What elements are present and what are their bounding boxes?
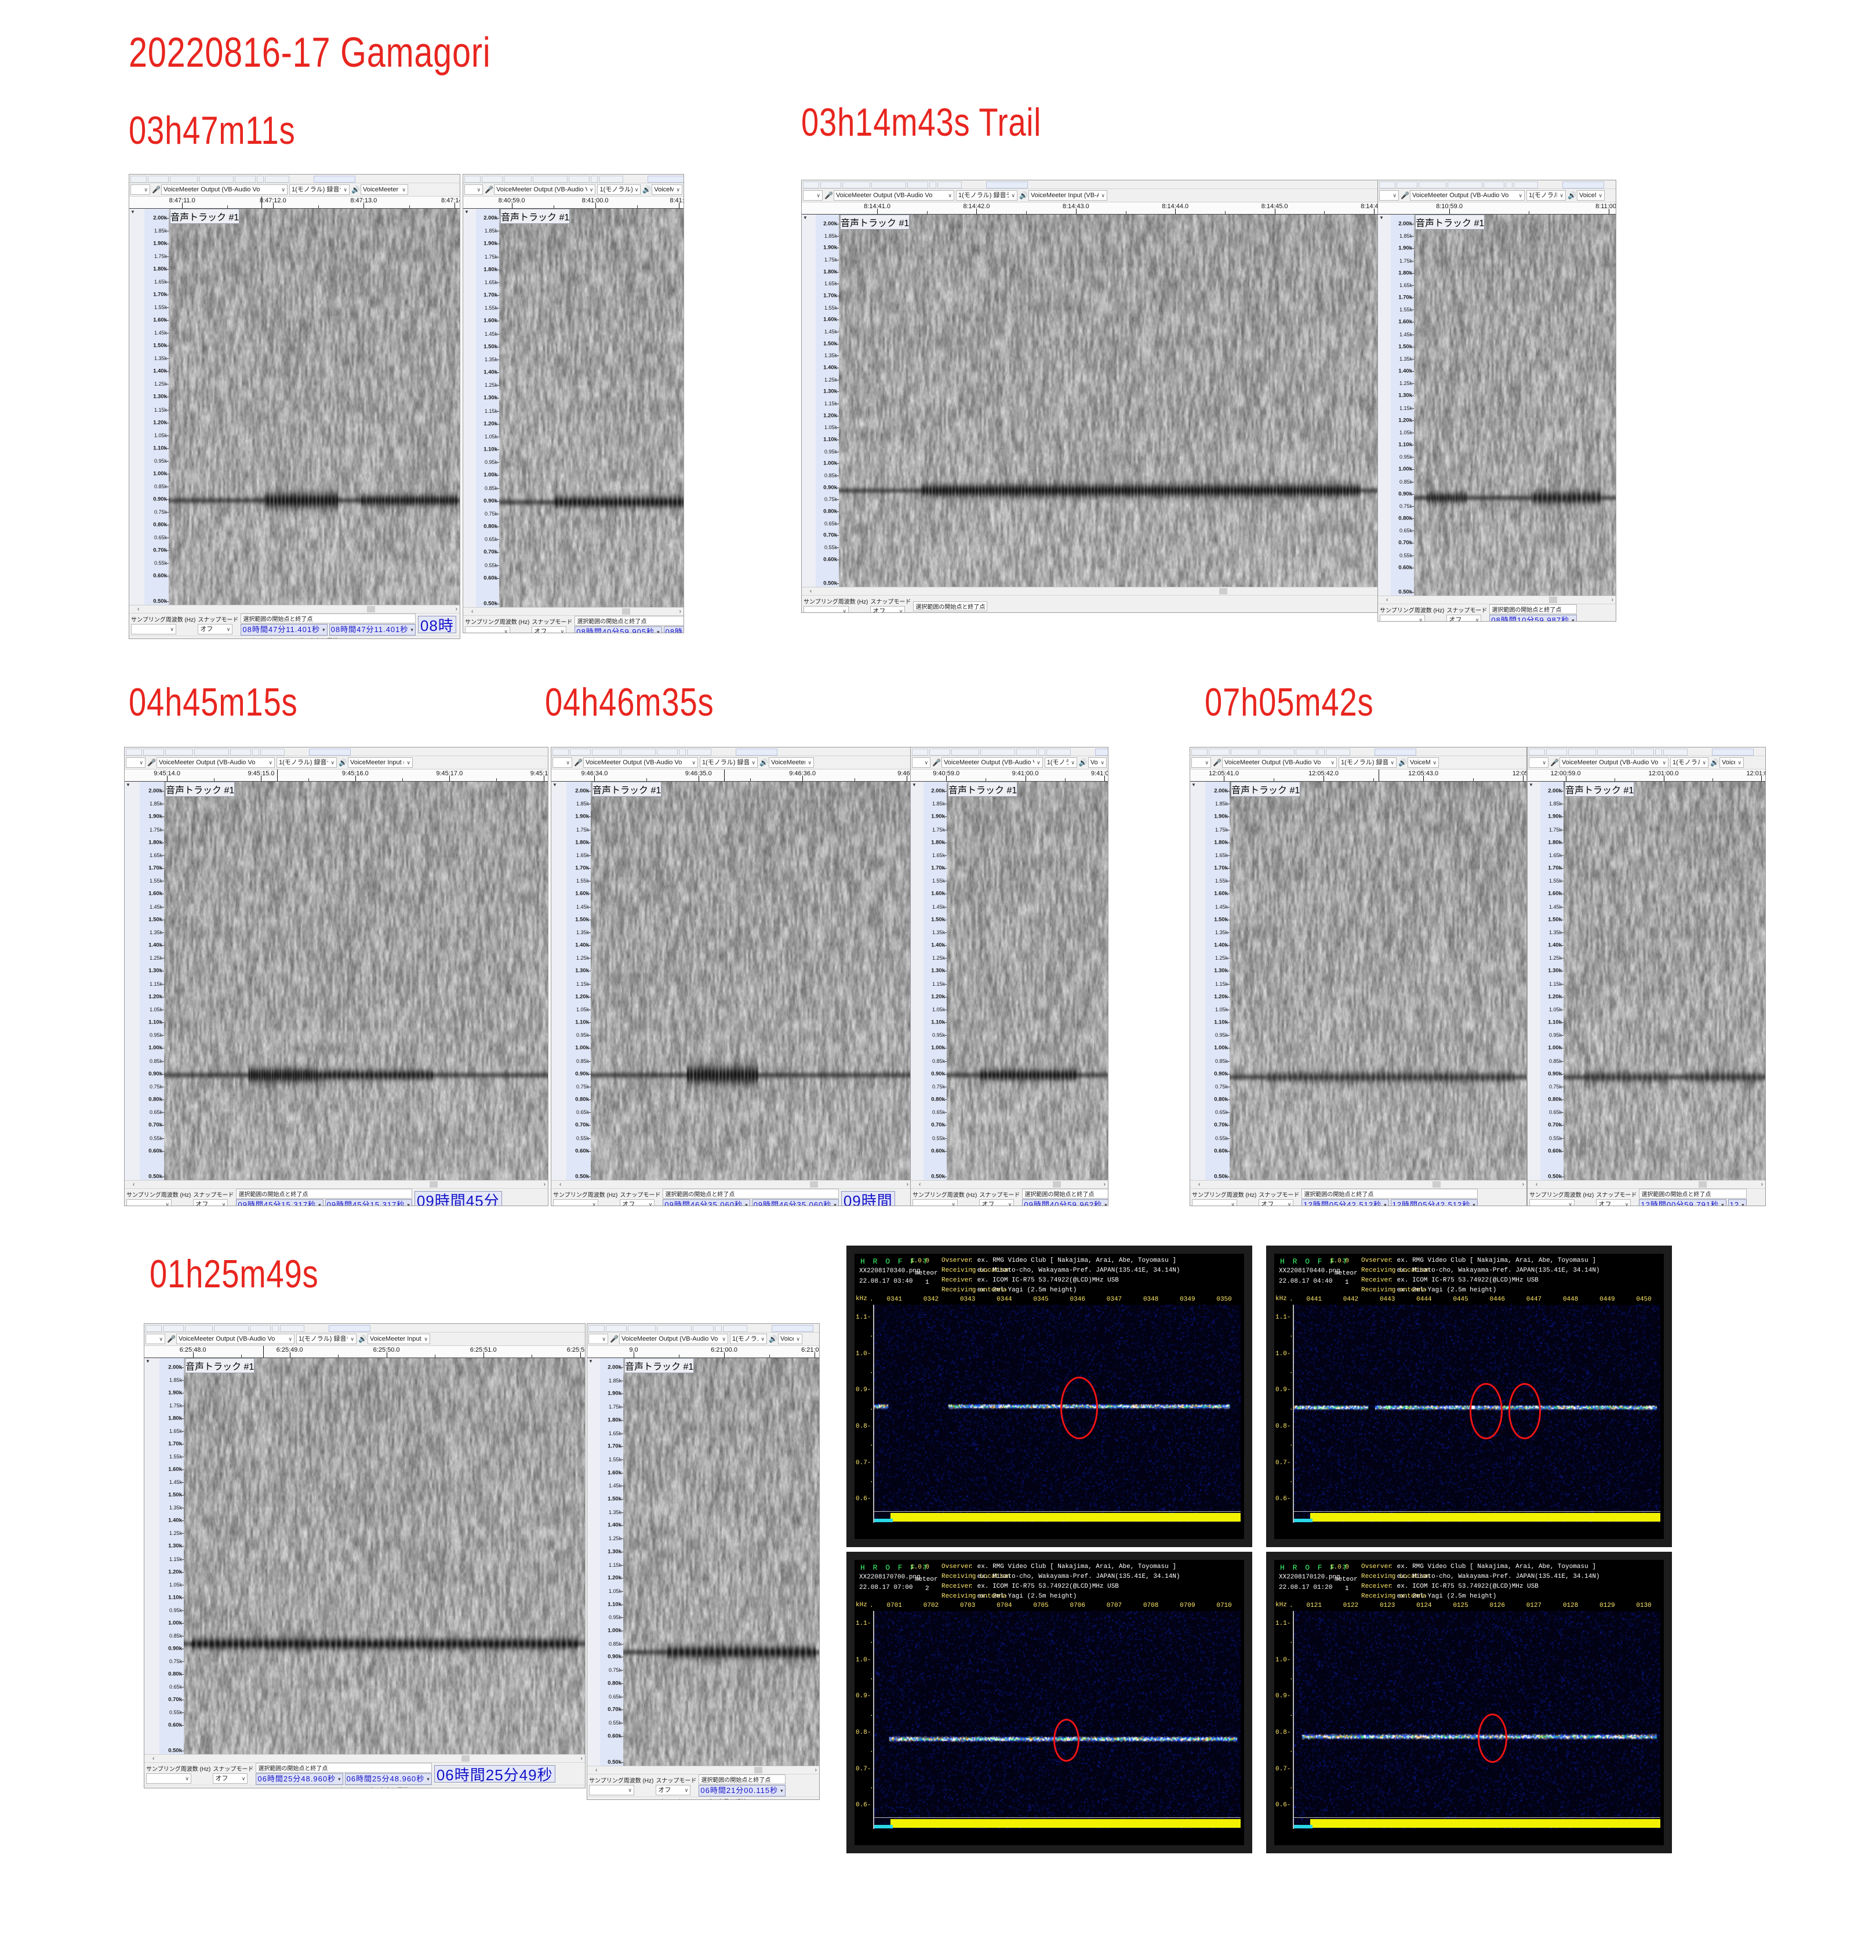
host-select[interactable]: ∨ [803, 190, 823, 201]
scroll-left-arrow[interactable]: ‹ [152, 1755, 154, 1762]
selection-start-field[interactable]: 06時間21分00.115秒▾ [699, 1785, 785, 1796]
device-toolbar[interactable]: ∨🎤VoiceMeeter Output (VB-Audio Vo∨1(モノラル… [129, 183, 460, 197]
selection-range-fields[interactable]: 08時間47分11.401秒▾08時間47分11.401秒▾ [241, 624, 416, 636]
chevron-down-icon[interactable]: ∨ [1231, 1200, 1235, 1206]
track-control-panel[interactable]: ▼ [587, 1358, 601, 1766]
scroll-left-arrow[interactable]: ‹ [810, 587, 812, 595]
host-select[interactable]: ∨ [1379, 190, 1399, 201]
horizontal-scrollbar[interactable]: ‹› [587, 1766, 819, 1774]
track-panel[interactable]: ▼2.00k1.90k1.80k1.70k1.60k1.50k1.40k1.30… [802, 215, 1381, 587]
chevron-down-icon[interactable]: ∨ [1008, 1200, 1012, 1206]
scroll-right-arrow[interactable]: › [1522, 1181, 1524, 1188]
chevron-down-icon[interactable]: ∨ [816, 191, 820, 200]
selection-end-field[interactable]: 08時間47分11.401秒▾ [329, 624, 416, 636]
chevron-down-icon[interactable]: ∨ [1288, 1200, 1292, 1206]
device-toolbar[interactable]: ∨🎤VoiceMeeter Output (VB-Audio Vo∨1(モノラル… [587, 1333, 819, 1346]
recording-channels-select[interactable]: 1(モノラル) 録音チャンネル∨ [1670, 757, 1708, 768]
chevron-down-icon[interactable]: ∨ [477, 185, 481, 194]
selection-start-field[interactable]: 09時間45分15.317秒▾ [236, 1199, 323, 1206]
selection-end-field[interactable]: 12時間05分42.512秒▾ [1391, 1199, 1478, 1206]
recording-device-select[interactable]: VoiceMeeter Output (VB-Audio Vo∨ [161, 184, 288, 195]
audacity-window-p2b[interactable]: ∨🎤VoiceMeeter Output (VB-Audio Vo∨1(モノラル… [1377, 180, 1616, 622]
track-control-panel[interactable]: ▼ [463, 209, 477, 607]
selection-range-fields[interactable]: 12時間00分59.791秒▾12▾ [1639, 1199, 1746, 1206]
horizontal-scrollbar[interactable]: ‹› [1190, 1180, 1526, 1188]
toolbar-strip[interactable] [1190, 747, 1526, 756]
sample-rate-combo[interactable]: ∨ [146, 1773, 191, 1784]
collapse-icon[interactable]: ▼ [551, 782, 566, 788]
chevron-down-icon[interactable]: ∨ [948, 191, 952, 200]
scroll-left-arrow[interactable]: ‹ [1536, 1181, 1537, 1188]
sample-rate-combo[interactable]: ∨ [131, 624, 176, 634]
sample-rate-combo[interactable]: ∨ [465, 626, 510, 633]
chevron-down-icon[interactable]: ∨ [1559, 191, 1564, 200]
selection-toolbar[interactable]: サンプリング周波数 (Hz)∨スナップモードオフ∨選択範囲の開始点と終了点08時… [463, 615, 683, 633]
selection-toolbar[interactable]: サンプリング周波数 (Hz)∨スナップモードオフ∨選択範囲の開始点と終了点08時… [129, 613, 460, 636]
scroll-right-arrow[interactable]: › [581, 1755, 583, 1762]
chevron-down-icon[interactable]: ∨ [566, 758, 570, 767]
chevron-down-icon[interactable]: ∨ [1737, 758, 1742, 767]
chevron-down-icon[interactable]: ∨ [635, 185, 639, 194]
recording-channels-select[interactable]: 1(モノラル) 録音チャンネル∨ [700, 757, 758, 768]
toolbar-strip[interactable] [144, 1324, 585, 1333]
track-panel[interactable]: ▼2.00k1.90k1.80k1.70k1.60k1.50k1.40k1.30… [463, 209, 683, 607]
audacity-window-p6a[interactable]: ∨🎤VoiceMeeter Output (VB-Audio Vo∨1(モノラル… [144, 1323, 586, 1788]
audio-position-display[interactable]: 09時間 [841, 1191, 895, 1206]
selection-range-fields[interactable]: 08時間40分59.905秒▾08時間40分59.905秒▾ [575, 626, 684, 633]
track-panel[interactable]: ▼2.00k1.90k1.80k1.70k1.60k1.50k1.40k1.30… [1528, 782, 1765, 1180]
chevron-down-icon[interactable]: ∨ [1433, 758, 1437, 767]
chevron-down-icon[interactable]: ∨ [222, 1200, 226, 1206]
audacity-window-p5a[interactable]: ∨🎤VoiceMeeter Output (VB-Audio Vo∨1(モノラル… [1190, 747, 1527, 1206]
recording-device-select[interactable]: VoiceMeeter Output (VB-Audio Vo∨ [157, 757, 275, 768]
playback-device-select[interactable]: VoiceMeeter Input (VB-Audio Voi∨ [368, 1334, 430, 1344]
track-control-panel[interactable]: ▼ [129, 209, 145, 605]
audacity-window-p6b[interactable]: ∨🎤VoiceMeeter Output (VB-Audio Vo∨1(モノラル… [587, 1323, 820, 1800]
chevron-down-icon[interactable]: ∨ [402, 185, 406, 194]
selection-end-field[interactable]: 06時間25分48.960秒▾ [345, 1773, 432, 1785]
chevron-down-icon[interactable]: ∨ [1518, 191, 1522, 200]
device-toolbar[interactable]: ∨🎤VoiceMeeter Output (VB-Audio Vo∨1(モノラル… [802, 189, 1381, 202]
spectrogram[interactable]: 音声トラック #1 [1230, 782, 1526, 1180]
chevron-down-icon[interactable]: ∨ [899, 607, 903, 613]
playback-device-select[interactable]: VoiceMeeter Input (VB-Audio Voi∨ [652, 184, 682, 195]
track-panel[interactable]: ▼2.00k1.90k1.80k1.70k1.60k1.50k1.40k1.30… [911, 782, 1108, 1180]
scroll-left-arrow[interactable]: ‹ [919, 1181, 921, 1188]
selection-toolbar[interactable]: サンプリング周波数 (Hz)∨スナップモードオフ∨選択範囲の開始点と終了点09時… [911, 1188, 1108, 1206]
scroll-left-arrow[interactable]: ‹ [595, 1766, 597, 1774]
chevron-down-icon[interactable]: ∨ [424, 1334, 428, 1344]
device-toolbar[interactable]: ∨🎤VoiceMeeter Output (VB-Audio Vo∨1(モノラル… [551, 756, 911, 770]
scrollbar-thumb[interactable] [1433, 1181, 1441, 1188]
timeline-ruler[interactable]: 12:00:59.012:01:00.012:01:01.0 [1528, 770, 1765, 782]
scrollbar-thumb[interactable] [367, 606, 375, 612]
chevron-down-icon[interactable]: ∨ [281, 185, 285, 194]
horizontal-scrollbar[interactable]: ‹› [125, 1180, 548, 1188]
timeline-ruler[interactable]: 12:05:41.012:05:42.012:05:43.012:05:4 [1190, 770, 1526, 782]
sample-rate-combo[interactable]: ∨ [1529, 1199, 1575, 1206]
playback-device-select[interactable]: VoiceMeeter Input (VB-Audio Voi∨ [1028, 190, 1107, 201]
playback-device-select[interactable]: VoiceMeeter Input (VB-Audio Voi∨ [1577, 190, 1605, 201]
spectrogram[interactable]: 音声トラック #1 [839, 215, 1381, 587]
device-toolbar[interactable]: ∨🎤VoiceMeeter Output (VB-Audio Vo∨1(モノラル… [463, 183, 683, 197]
toolbar-strip[interactable] [802, 180, 1381, 189]
recording-device-select[interactable]: VoiceMeeter Output (VB-Audio Vo∨ [1410, 190, 1525, 201]
selection-start-field[interactable]: 08時間40分59.905秒▾ [575, 626, 661, 633]
track-control-panel[interactable]: ▼ [911, 782, 924, 1180]
chevron-down-icon[interactable]: ∨ [951, 1200, 955, 1206]
recording-channels-select[interactable]: 1(モノラル) 録音チャンネル∨ [296, 1334, 357, 1344]
track-control-panel[interactable]: ▼ [1190, 782, 1206, 1180]
track-panel[interactable]: ▼2.00k1.90k1.80k1.70k1.60k1.50k1.40k1.30… [1190, 782, 1526, 1180]
playback-device-select[interactable]: VoiceMeeter Input (VB-Audio Voi∨ [1408, 757, 1439, 768]
playback-device-select[interactable]: VoiceMeeter Input (VB-Audio Voi∨ [1088, 757, 1107, 768]
track-panel[interactable]: ▼2.00k1.90k1.80k1.70k1.60k1.50k1.40k1.30… [144, 1358, 585, 1754]
device-toolbar[interactable]: ∨🎤VoiceMeeter Output (VB-Audio Vo∨1(モノラル… [1378, 189, 1616, 202]
selection-range-fields[interactable]: 09時間40分59.962秒▾ [1022, 1199, 1108, 1206]
snap-mode-combo[interactable]: オフ∨ [620, 1199, 655, 1206]
scroll-right-arrow[interactable]: › [544, 1181, 546, 1188]
toolbar-strip[interactable] [551, 747, 911, 756]
chevron-down-icon[interactable]: ∨ [842, 607, 846, 613]
spectrogram[interactable]: 音声トラック #1 [169, 209, 460, 605]
recording-channels-select[interactable]: 1(モノラル) 録音チャンネル∨ [289, 184, 350, 195]
chevron-down-icon[interactable]: ∨ [139, 758, 143, 767]
scroll-left-arrow[interactable]: ‹ [1198, 1181, 1200, 1188]
selection-toolbar[interactable]: サンプリング周波数 (Hz)∨スナップモードオフ∨選択範囲の開始点と終了点12時… [1190, 1188, 1526, 1206]
audacity-window-p1b[interactable]: ∨🎤VoiceMeeter Output (VB-Audio Vo∨1(モノラル… [463, 174, 684, 633]
selection-start-field[interactable]: 12時間05分42.512秒▾ [1301, 1199, 1388, 1206]
chevron-down-icon[interactable]: ∨ [1205, 758, 1209, 767]
device-toolbar[interactable]: ∨🎤VoiceMeeter Output (VB-Audio Vo∨1(モノラル… [1528, 756, 1765, 770]
chevron-down-icon[interactable]: ∨ [268, 758, 272, 767]
host-select[interactable]: ∨ [464, 184, 483, 195]
selection-toolbar[interactable]: サンプリング周波数 (Hz)∨スナップモードオフ∨選択範囲の開始点と終了点 [802, 595, 1381, 613]
selection-end-field[interactable]: 08時間40分59.905秒▾ [664, 626, 684, 633]
horizontal-scrollbar[interactable]: ‹› [129, 605, 460, 613]
selection-range-fields[interactable]: 09時間45分15.317秒▾09時間45分15.317秒▾ [236, 1199, 412, 1206]
audacity-window-p3a[interactable]: ∨🎤VoiceMeeter Output (VB-Audio Vo∨1(モノラル… [124, 747, 548, 1206]
recording-device-select[interactable]: VoiceMeeter Output (VB-Audio Vo∨ [1559, 757, 1668, 768]
scrollbar-thumb[interactable] [1053, 1181, 1061, 1188]
spectrogram[interactable]: 音声トラック #1 [164, 782, 548, 1180]
snap-mode-combo[interactable]: オフ∨ [656, 1785, 690, 1795]
scroll-left-arrow[interactable]: ‹ [133, 1181, 134, 1188]
scrollbar-thumb[interactable] [1549, 597, 1557, 603]
scrollbar-thumb[interactable] [810, 1181, 818, 1188]
chevron-down-icon[interactable]: ∨ [330, 758, 335, 767]
selection-range-fields[interactable]: 06時間25分48.960秒▾06時間25分48.960秒▾ [256, 1773, 431, 1785]
selection-start-field[interactable]: 12時間00分59.791秒▾ [1639, 1199, 1726, 1206]
host-select[interactable]: ∨ [912, 757, 930, 768]
audio-position-display[interactable]: 09時間45分 [415, 1191, 502, 1206]
horizontal-scrollbar[interactable]: ‹› [1378, 596, 1616, 604]
chevron-down-icon[interactable]: ∨ [165, 1200, 169, 1206]
chevron-down-icon[interactable]: ∨ [924, 758, 928, 767]
chevron-down-icon[interactable]: ∨ [343, 185, 347, 194]
recording-device-select[interactable]: VoiceMeeter Output (VB-Audio Vo∨ [941, 757, 1043, 768]
recording-device-select[interactable]: VoiceMeeter Output (VB-Audio Vo∨ [619, 1334, 728, 1344]
track-panel[interactable]: ▼2.00k1.90k1.80k1.70k1.60k1.50k1.40k1.30… [129, 209, 460, 605]
scroll-right-arrow[interactable]: › [907, 1181, 908, 1188]
scrollbar-thumb[interactable] [430, 1181, 438, 1188]
device-toolbar[interactable]: ∨🎤VoiceMeeter Output (VB-Audio Vo∨1(モノラル… [1190, 756, 1526, 770]
toolbar-strip[interactable] [1378, 180, 1616, 189]
collapse-icon[interactable]: ▼ [1190, 782, 1205, 788]
selection-start-field[interactable]: 08時間47分11.401秒▾ [241, 624, 327, 636]
chevron-down-icon[interactable]: ∨ [185, 1774, 189, 1783]
chevron-down-icon[interactable]: ∨ [1071, 758, 1075, 767]
track-panel[interactable]: ▼2.00k1.90k1.80k1.70k1.60k1.50k1.40k1.30… [1378, 215, 1616, 596]
timeline-ruler[interactable]: 8:40:59.08:41:00.08:41:0 [463, 197, 683, 209]
recording-channels-select[interactable]: 1(モノラル) 録音チャンネル∨ [730, 1334, 767, 1344]
scrollbar-thumb[interactable] [461, 1755, 470, 1762]
collapse-icon[interactable]: ▼ [802, 215, 816, 221]
chevron-down-icon[interactable]: ∨ [1662, 758, 1666, 767]
toolbar-strip[interactable] [125, 747, 548, 756]
selection-end-field[interactable]: 12▾ [1728, 1199, 1747, 1206]
host-select[interactable]: ∨ [146, 1334, 165, 1344]
scroll-right-arrow[interactable]: › [1612, 596, 1613, 604]
chevron-down-icon[interactable]: ∨ [592, 1200, 596, 1206]
recording-channels-select[interactable]: 1(モノラル) 録音チャンネル∨ [956, 190, 1017, 201]
selection-start-field[interactable]: 09時間46分35.060秒▾ [663, 1199, 750, 1206]
collapse-icon[interactable]: ▼ [463, 209, 476, 215]
selection-start-field[interactable]: 06時間25分48.960秒▾ [256, 1773, 343, 1785]
horizontal-scrollbar[interactable]: ‹› [551, 1180, 911, 1188]
track-control-panel[interactable]: ▼ [144, 1358, 160, 1754]
snap-mode-combo[interactable]: オフ∨ [1446, 615, 1481, 622]
chevron-down-icon[interactable]: ∨ [808, 758, 812, 767]
toolbar-strip[interactable] [463, 175, 683, 183]
chevron-down-icon[interactable]: ∨ [1625, 1200, 1629, 1206]
selection-toolbar[interactable]: サンプリング周波数 (Hz)∨スナップモードオフ∨選択範囲の開始点と終了点06時… [144, 1762, 585, 1785]
toolbar-strip[interactable] [1528, 747, 1765, 756]
chevron-down-icon[interactable]: ∨ [350, 1334, 354, 1344]
chevron-down-icon[interactable]: ∨ [1390, 758, 1394, 767]
chevron-down-icon[interactable]: ∨ [1419, 615, 1423, 622]
playback-device-select[interactable]: VoiceMeeter Input (VB-Audio Voi∨ [769, 757, 814, 768]
chevron-down-icon[interactable]: ∨ [1101, 191, 1105, 200]
selection-range-fields[interactable]: 08時間10分59.987秒▾ [1489, 615, 1576, 622]
scroll-left-arrow[interactable]: ‹ [137, 605, 139, 613]
scrollbar-thumb[interactable] [1219, 588, 1227, 594]
device-toolbar[interactable]: ∨🎤VoiceMeeter Output (VB-Audio Vo∨1(モノラル… [125, 756, 548, 770]
toolbar-strip[interactable] [911, 747, 1108, 756]
timeline-ruler[interactable]: 8:47:11.08:47:12.08:47:13.08:47:14.0 [129, 197, 460, 209]
chevron-down-icon[interactable]: ∨ [1100, 758, 1104, 767]
scroll-right-arrow[interactable]: › [1761, 1181, 1763, 1188]
selection-start-field[interactable]: 09時間40分59.962秒▾ [1022, 1199, 1108, 1206]
chevron-down-icon[interactable]: ∨ [1702, 758, 1706, 767]
chevron-down-icon[interactable]: ∨ [602, 1334, 606, 1344]
snap-mode-combo[interactable]: オフ∨ [1259, 1199, 1293, 1206]
selection-toolbar[interactable]: サンプリング周波数 (Hz)∨スナップモードオフ∨選択範囲の開始点と終了点08時… [1378, 604, 1616, 622]
spectrogram[interactable]: 音声トラック #1 [591, 782, 911, 1180]
recording-channels-select[interactable]: 1(モノラル) 録音チャンネル∨ [597, 184, 641, 195]
chevron-down-icon[interactable]: ∨ [504, 627, 508, 633]
timeline-ruler[interactable]: 8:14:41.08:14:42.08:14:43.08:14:44.08:14… [802, 202, 1381, 215]
collapse-icon[interactable]: ▼ [125, 782, 140, 788]
toolbar-strip[interactable] [129, 175, 460, 183]
snap-mode-combo[interactable]: オフ∨ [193, 1199, 228, 1206]
recording-device-select[interactable]: VoiceMeeter Output (VB-Audio Vo∨ [1222, 757, 1337, 768]
chevron-down-icon[interactable]: ∨ [751, 758, 755, 767]
snap-mode-combo[interactable]: オフ∨ [870, 606, 905, 613]
chevron-down-icon[interactable]: ∨ [1475, 615, 1479, 622]
sample-rate-combo[interactable]: ∨ [804, 606, 849, 613]
chevron-down-icon[interactable]: ∨ [144, 185, 148, 194]
spectrogram[interactable]: 音声トラック #1 [1414, 215, 1616, 596]
chevron-down-icon[interactable]: ∨ [159, 1334, 163, 1344]
audio-position-display[interactable]: 06時間25分49秒 [434, 1765, 555, 1783]
chevron-down-icon[interactable]: ∨ [692, 758, 696, 767]
playback-device-select[interactable]: VoiceMeeter Input (VB-Audio Voi∨ [1719, 757, 1744, 768]
selection-start-field[interactable]: 08時間10分59.987秒▾ [1489, 615, 1576, 622]
collapse-icon[interactable]: ▼ [1528, 782, 1540, 788]
collapse-icon[interactable]: ▼ [911, 782, 924, 788]
horizontal-scrollbar[interactable]: ‹› [802, 587, 1381, 595]
selection-toolbar[interactable]: サンプリング周波数 (Hz)∨スナップモードオフ∨選択範囲の開始点と終了点09時… [125, 1188, 548, 1206]
chevron-down-icon[interactable]: ∨ [242, 1774, 246, 1783]
audacity-window-p5b[interactable]: ∨🎤VoiceMeeter Output (VB-Audio Vo∨1(モノラル… [1527, 747, 1766, 1206]
track-panel[interactable]: ▼2.00k1.90k1.80k1.70k1.60k1.50k1.40k1.30… [551, 782, 911, 1180]
recording-channels-select[interactable]: 1(モノラル) 録音チャンネル∨ [277, 757, 337, 768]
selection-end-field[interactable]: 09時間46分35.060秒▾ [752, 1199, 839, 1206]
selection-range-fields[interactable]: 06時間21分00.115秒▾ [699, 1785, 785, 1796]
playback-device-select[interactable]: VoiceMeeter Input (VB-Audio Voi∨ [348, 757, 413, 768]
snap-mode-combo[interactable]: オフ∨ [979, 1199, 1014, 1206]
selection-range-fields[interactable]: 09時間46分35.060秒▾09時間46分35.060秒▾ [663, 1199, 838, 1206]
chevron-down-icon[interactable]: ∨ [1542, 758, 1546, 767]
collapse-icon[interactable]: ▼ [587, 1358, 600, 1364]
device-toolbar[interactable]: ∨🎤VoiceMeeter Output (VB-Audio Vo∨1(モノラル… [911, 756, 1108, 770]
recording-channels-select[interactable]: 1(モノラル) 録音チャンネル∨ [1526, 190, 1566, 201]
recording-device-select[interactable]: VoiceMeeter Output (VB-Audio Vo∨ [176, 1334, 295, 1344]
track-control-panel[interactable]: ▼ [551, 782, 567, 1180]
spectrogram[interactable]: 音声トラック #1 [184, 1358, 585, 1754]
chevron-down-icon[interactable]: ∨ [1011, 191, 1015, 200]
chevron-down-icon[interactable]: ∨ [628, 1785, 632, 1795]
audio-position-display[interactable]: 08時 [418, 616, 456, 633]
timeline-ruler[interactable]: 9:40:59.09:41:00.09:41:01.0 [911, 770, 1108, 782]
scroll-right-arrow[interactable]: › [456, 605, 457, 613]
scroll-right-arrow[interactable]: › [679, 608, 681, 615]
toolbar-strip[interactable] [587, 1324, 819, 1333]
chevron-down-icon[interactable]: ∨ [722, 1334, 726, 1344]
scroll-left-arrow[interactable]: ‹ [471, 608, 473, 615]
selection-toolbar[interactable]: サンプリング周波数 (Hz)∨スナップモードオフ∨選択範囲の開始点と終了点09時… [551, 1188, 911, 1206]
scroll-right-arrow[interactable]: › [1104, 1181, 1106, 1188]
audacity-window-p4a[interactable]: ∨🎤VoiceMeeter Output (VB-Audio Vo∨1(モノラル… [551, 747, 911, 1206]
sample-rate-combo[interactable]: ∨ [1380, 615, 1425, 622]
spectrogram[interactable]: 音声トラック #1 [623, 1358, 819, 1766]
host-select[interactable]: ∨ [1529, 757, 1548, 768]
sample-rate-combo[interactable]: ∨ [589, 1785, 634, 1795]
timeline-ruler[interactable]: 6:25:48.06:25:49.06:25:50.06:25:51.06:25… [144, 1346, 585, 1358]
device-toolbar[interactable]: ∨🎤VoiceMeeter Output (VB-Audio Vo∨1(モノラル… [144, 1333, 585, 1346]
track-control-panel[interactable]: ▼ [1378, 215, 1391, 596]
snap-mode-combo[interactable]: オフ∨ [1596, 1199, 1631, 1206]
host-select[interactable]: ∨ [588, 1334, 608, 1344]
playback-device-select[interactable]: VoiceMeeter Input (VB-Audio Voi∨ [778, 1334, 802, 1344]
snap-mode-combo[interactable]: オフ∨ [213, 1773, 248, 1784]
scroll-left-arrow[interactable]: ‹ [559, 1181, 561, 1188]
playback-device-select[interactable]: VoiceMeeter Input (VB-Audio Voi∨ [361, 184, 408, 195]
scrollbar-thumb[interactable] [622, 608, 630, 615]
track-panel[interactable]: ▼2.00k1.90k1.80k1.70k1.60k1.50k1.40k1.30… [125, 782, 548, 1180]
snap-mode-combo[interactable]: オフ∨ [198, 624, 232, 634]
collapse-icon[interactable]: ▼ [144, 1358, 159, 1364]
horizontal-scrollbar[interactable]: ‹› [463, 607, 683, 615]
sample-rate-combo[interactable]: ∨ [553, 1199, 598, 1206]
track-control-panel[interactable]: ▼ [125, 782, 140, 1180]
spectrogram[interactable]: 音声トラック #1 [1564, 782, 1765, 1180]
spectrogram[interactable]: 音声トラック #1 [947, 782, 1108, 1180]
snap-mode-combo[interactable]: オフ∨ [532, 626, 566, 633]
scroll-left-arrow[interactable]: ‹ [1386, 596, 1388, 604]
chevron-down-icon[interactable]: ∨ [406, 758, 410, 767]
timeline-ruler[interactable]: 9.06:21:00.06:21:01.0 [587, 1346, 819, 1358]
host-select[interactable]: ∨ [1191, 757, 1211, 768]
collapse-icon[interactable]: ▼ [1378, 215, 1391, 221]
chevron-down-icon[interactable]: ∨ [227, 625, 231, 634]
track-control-panel[interactable]: ▼ [802, 215, 816, 587]
spectrogram[interactable]: 音声トラック #1 [499, 209, 683, 607]
chevron-down-icon[interactable]: ∨ [1393, 191, 1397, 200]
sample-rate-combo[interactable]: ∨ [912, 1199, 958, 1206]
timeline-ruler[interactable]: 9:46:34.09:46:35.09:46:36.09:46:3 [551, 770, 911, 782]
chevron-down-icon[interactable]: ∨ [685, 1785, 689, 1795]
recording-channels-select[interactable]: 1(モノラル) 録音チャンネル∨ [1045, 757, 1077, 768]
chevron-down-icon[interactable]: ∨ [761, 1334, 765, 1344]
track-control-panel[interactable]: ▼ [1528, 782, 1541, 1180]
scrollbar-thumb[interactable] [1699, 1181, 1707, 1188]
recording-channels-select[interactable]: 1(モノラル) 録音チャンネル∨ [1339, 757, 1397, 768]
audacity-window-p1a[interactable]: ∨🎤VoiceMeeter Output (VB-Audio Vo∨1(モノラル… [129, 174, 460, 639]
host-select[interactable]: ∨ [552, 757, 572, 768]
audacity-window-p2a[interactable]: ∨🎤VoiceMeeter Output (VB-Audio Vo∨1(モノラル… [801, 180, 1382, 613]
horizontal-scrollbar[interactable]: ‹› [1528, 1180, 1765, 1188]
host-select[interactable]: ∨ [130, 184, 150, 195]
timeline-ruler[interactable]: 8:10:59.08:11:00.0 [1378, 202, 1616, 215]
selection-toolbar[interactable]: サンプリング周波数 (Hz)∨スナップモードオフ∨選択範囲の開始点と終了点12時… [1528, 1188, 1765, 1206]
selection-range-fields[interactable]: 12時間05分42.512秒▾12時間05分42.512秒▾ [1301, 1199, 1477, 1206]
scrollbar-thumb[interactable] [754, 1767, 762, 1773]
selection-toolbar[interactable]: サンプリング周波数 (Hz)∨スナップモードオフ∨選択範囲の開始点と終了点06時… [587, 1774, 819, 1796]
selection-end-field[interactable]: 09時間45分15.317秒▾ [325, 1199, 412, 1206]
chevron-down-icon[interactable]: ∨ [1330, 758, 1335, 767]
host-select[interactable]: ∨ [126, 757, 146, 768]
chevron-down-icon[interactable]: ∨ [676, 185, 680, 194]
chevron-down-icon[interactable]: ∨ [1037, 758, 1041, 767]
sample-rate-combo[interactable]: ∨ [1192, 1199, 1237, 1206]
chevron-down-icon[interactable]: ∨ [590, 185, 594, 194]
chevron-down-icon[interactable]: ∨ [1568, 1200, 1572, 1206]
track-panel[interactable]: ▼2.00k1.90k1.80k1.70k1.60k1.50k1.40k1.30… [587, 1358, 819, 1766]
chevron-down-icon[interactable]: ∨ [649, 1200, 653, 1206]
recording-device-select[interactable]: VoiceMeeter Output (VB-Audio Vo∨ [834, 190, 954, 201]
chevron-down-icon[interactable]: ∨ [1598, 191, 1602, 200]
chevron-down-icon[interactable]: ∨ [561, 627, 565, 633]
chevron-down-icon[interactable]: ∨ [796, 1334, 800, 1344]
audacity-window-p4b[interactable]: ∨🎤VoiceMeeter Output (VB-Audio Vo∨1(モノラル… [910, 747, 1108, 1206]
collapse-icon[interactable]: ▼ [129, 209, 144, 215]
horizontal-scrollbar[interactable]: ‹› [144, 1754, 585, 1762]
timeline-ruler[interactable]: 9:45:14.09:45:15.09:45:16.09:45:17.09:45… [125, 770, 548, 782]
chevron-down-icon[interactable]: ∨ [288, 1334, 292, 1344]
chevron-down-icon[interactable]: ∨ [170, 625, 174, 634]
